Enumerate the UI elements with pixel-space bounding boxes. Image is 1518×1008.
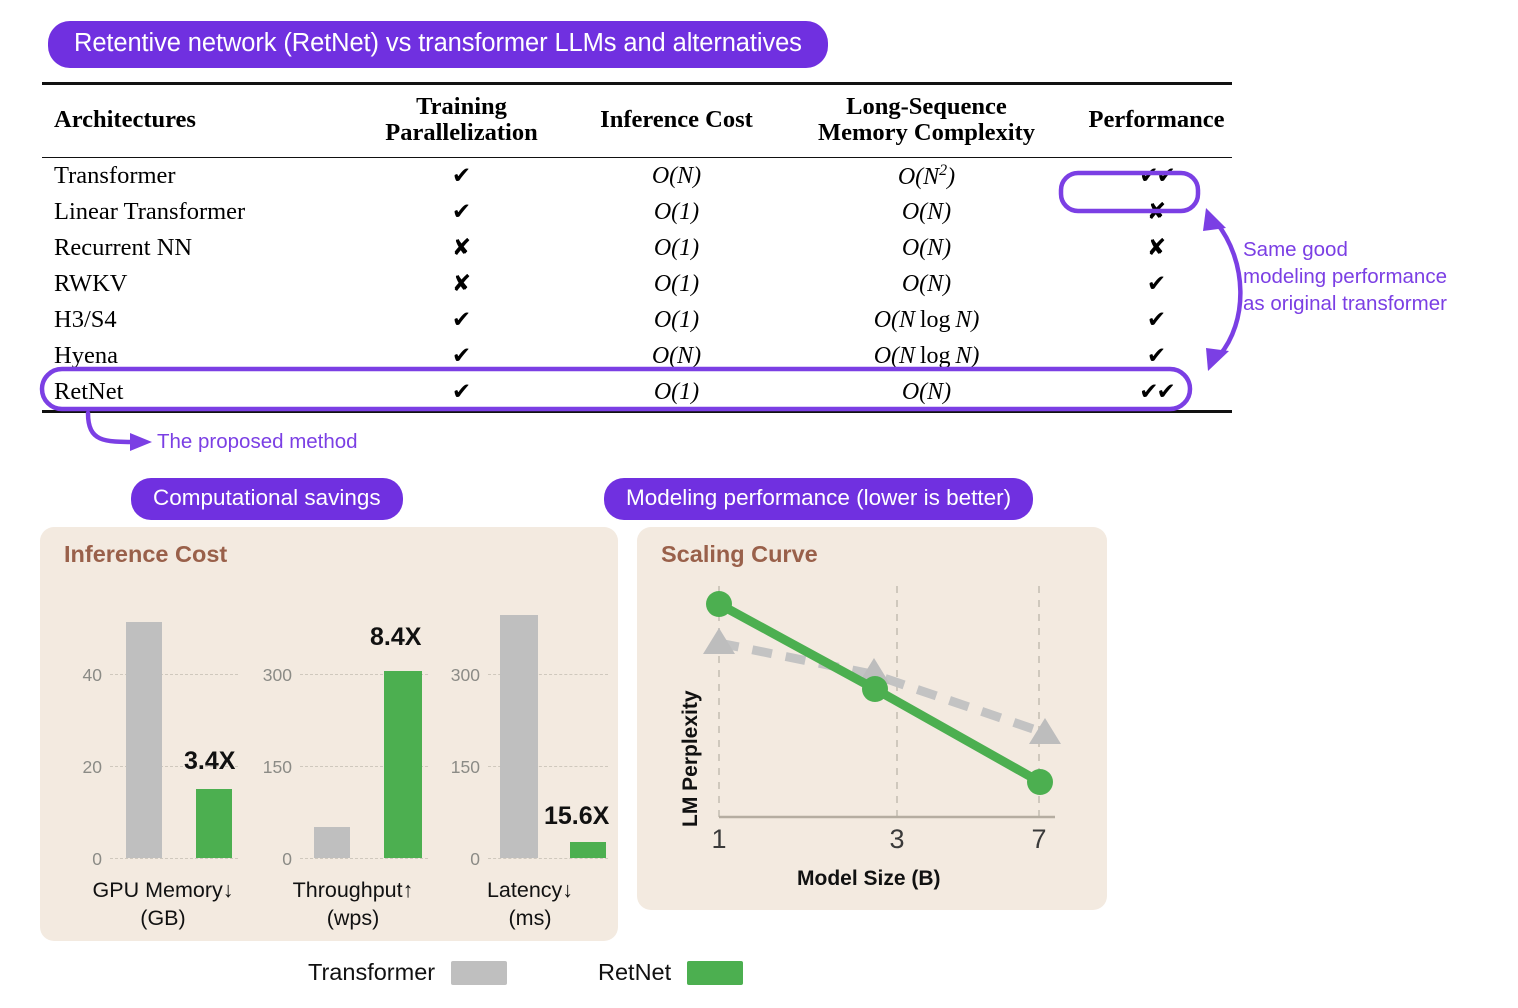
cell-training: ✘ [354, 266, 569, 302]
speedup-gpu-memory: 3.4X [184, 747, 235, 776]
subplot-latency: 300 150 0 15.6X Latency↓ (ms) [440, 587, 620, 837]
bar-transformer-throughput [314, 827, 350, 858]
cell-memory: O(N) [784, 194, 1069, 230]
col-header-architectures: Architectures [42, 85, 354, 157]
cell-inference: O(1) [569, 230, 784, 266]
inference-cost-title: Inference Cost [64, 541, 227, 568]
gridline-throughput-0 [300, 858, 428, 859]
legend-swatch-retnet [687, 961, 743, 985]
cell-architecture: Linear Transformer [42, 194, 354, 230]
legend-label-transformer: Transformer [308, 959, 435, 986]
annotation-same-performance: Same good modeling performance as origin… [1243, 236, 1447, 317]
cell-performance: ✔✔ [1069, 158, 1244, 194]
proposed-method-arrow [88, 413, 136, 442]
table-row: H3/S4 ✔ O(1) O(N log N) ✔ [42, 302, 1244, 338]
cell-architecture: Transformer [42, 158, 354, 194]
cell-performance: ✘ [1069, 230, 1244, 266]
cell-inference: O(1) [569, 302, 784, 338]
cell-architecture: RetNet [42, 374, 354, 410]
cell-inference: O(1) [569, 266, 784, 302]
speedup-latency: 15.6X [544, 802, 609, 831]
cell-memory: O(N log N) [784, 302, 1069, 338]
cell-performance: ✔✔ [1069, 374, 1244, 410]
table-body: Transformer ✔ O(N) O(N2) ✔✔ Linear Trans… [42, 158, 1244, 410]
table-head: Architectures TrainingParallelization In… [42, 85, 1244, 157]
cell-performance: ✔ [1069, 338, 1244, 374]
legend-retnet: RetNet [598, 959, 743, 986]
ytick-gpu-0: 0 [62, 849, 102, 870]
annotation-proposed-method: The proposed method [157, 430, 358, 454]
inference-cost-panel: Inference Cost 40 20 0 3.4X GPU Memory↓ … [40, 527, 618, 941]
cell-inference: O(1) [569, 194, 784, 230]
scaling-curve-title: Scaling Curve [661, 541, 818, 568]
col-header-training-parallelization: TrainingParallelization [354, 85, 569, 157]
legend-swatch-transformer [451, 961, 507, 985]
legend-transformer: Transformer [308, 959, 507, 986]
scaling-curve-plot [697, 582, 1087, 837]
cell-memory: O(N) [784, 230, 1069, 266]
cell-memory: O(N2) [784, 158, 1069, 194]
cell-performance: ✘ [1069, 194, 1244, 230]
ytick-gpu-20: 20 [62, 757, 102, 778]
cell-architecture: RWKV [42, 266, 354, 302]
bar-transformer-latency [500, 615, 538, 858]
cell-memory: O(N) [784, 266, 1069, 302]
page-title-banner: Retentive network (RetNet) vs transforme… [48, 21, 828, 68]
cell-training: ✔ [354, 338, 569, 374]
bar-retnet-latency [570, 842, 606, 858]
ytick-gpu-40: 40 [62, 665, 102, 686]
gridline-gpu-0 [110, 858, 238, 859]
cell-inference: O(N) [569, 158, 784, 194]
bar-retnet-gpu-memory [196, 789, 232, 858]
table-row: Hyena ✔ O(N) O(N log N) ✔ [42, 338, 1244, 374]
section-badge-modeling-performance: Modeling performance (lower is better) [604, 478, 1033, 520]
cell-training: ✔ [354, 374, 569, 410]
architecture-comparison-table: Architectures TrainingParallelization In… [42, 85, 1244, 157]
cell-architecture: Hyena [42, 338, 354, 374]
arrowhead-proposed [130, 433, 152, 451]
cell-training: ✘ [354, 230, 569, 266]
cell-performance: ✔ [1069, 266, 1244, 302]
ytick-latency-150: 150 [440, 757, 480, 778]
cell-architecture: H3/S4 [42, 302, 354, 338]
comparison-table-wrapper: Architectures TrainingParallelization In… [42, 82, 1232, 413]
bar-transformer-gpu-memory [126, 622, 162, 858]
table-row: Transformer ✔ O(N) O(N2) ✔✔ [42, 158, 1244, 194]
table-row-retnet: RetNet ✔ O(1) O(N) ✔✔ [42, 374, 1244, 410]
cell-inference: O(N) [569, 338, 784, 374]
ytick-latency-0: 0 [440, 849, 480, 870]
scaling-curve-panel: Scaling Curve LM Perplexity 1 3 7 Model … [637, 527, 1107, 910]
category-label-throughput: Throughput↑ (wps) [258, 877, 448, 932]
table-body-table: Transformer ✔ O(N) O(N2) ✔✔ Linear Trans… [42, 158, 1244, 410]
cell-memory: O(N) [784, 374, 1069, 410]
xtick-7: 7 [1019, 824, 1059, 855]
subplot-gpu-memory: 40 20 0 3.4X GPU Memory↓ (GB) [62, 587, 238, 837]
cell-memory: O(N log N) [784, 338, 1069, 374]
category-label-gpu-memory: GPU Memory↓ (GB) [68, 877, 258, 932]
ytick-throughput-300: 300 [252, 665, 292, 686]
marker-transformer-7 [1029, 718, 1061, 744]
marker-retnet-3 [862, 676, 888, 702]
subplot-throughput: 300 150 0 8.4X Throughput↑ (wps) [252, 587, 432, 837]
ytick-throughput-0: 0 [252, 849, 292, 870]
gridline-latency-0 [488, 858, 608, 859]
ytick-throughput-150: 150 [252, 757, 292, 778]
ytick-latency-300: 300 [440, 665, 480, 686]
cell-inference: O(1) [569, 374, 784, 410]
cell-training: ✔ [354, 302, 569, 338]
table-header-row: Architectures TrainingParallelization In… [42, 85, 1244, 157]
table-row: Recurrent NN ✘ O(1) O(N) ✘ [42, 230, 1244, 266]
cell-training: ✔ [354, 158, 569, 194]
cell-architecture: Recurrent NN [42, 230, 354, 266]
table-row: RWKV ✘ O(1) O(N) ✔ [42, 266, 1244, 302]
cell-training: ✔ [354, 194, 569, 230]
speedup-throughput: 8.4X [370, 623, 421, 652]
xtick-1: 1 [699, 824, 739, 855]
table-bottom-rule [42, 410, 1232, 413]
x-axis-label-model-size: Model Size (B) [797, 867, 941, 891]
bar-retnet-throughput [384, 671, 422, 858]
col-header-performance: Performance [1069, 85, 1244, 157]
section-badge-computational-savings: Computational savings [131, 478, 403, 520]
category-label-latency: Latency↓ (ms) [440, 877, 620, 932]
legend-label-retnet: RetNet [598, 959, 671, 986]
cell-performance: ✔ [1069, 302, 1244, 338]
table-row: Linear Transformer ✔ O(1) O(N) ✘ [42, 194, 1244, 230]
xtick-3: 3 [877, 824, 917, 855]
marker-retnet-1 [706, 591, 732, 617]
col-header-inference-cost: Inference Cost [569, 85, 784, 157]
marker-retnet-7 [1027, 769, 1053, 795]
col-header-memory-complexity: Long-SequenceMemory Complexity [784, 85, 1069, 157]
